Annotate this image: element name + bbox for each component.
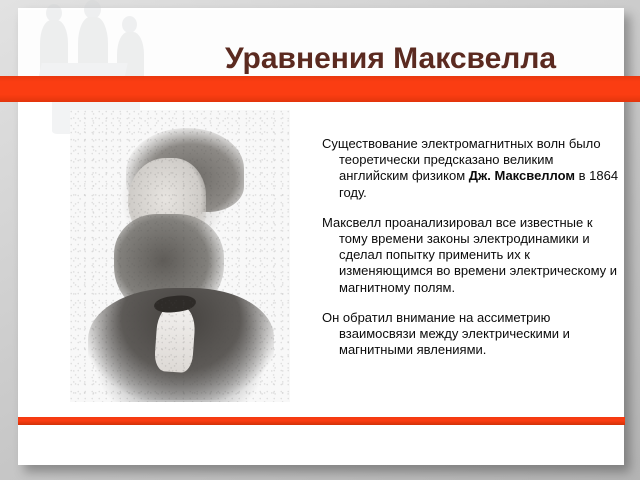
text-run: Он обратил внимание на ассиметрию взаимо…: [322, 310, 570, 357]
portrait-canvas: [70, 110, 290, 402]
accent-bar-top: [0, 76, 640, 102]
paragraph-1: Существование электромагнитных волн было…: [322, 136, 624, 201]
emphasis-run: Дж. Максвеллом: [469, 168, 575, 183]
portrait-grain-texture: [70, 110, 290, 402]
accent-bar-bottom: [18, 417, 625, 425]
text-run: Максвелл проанализировал все известные к…: [322, 215, 617, 295]
page-title: Уравнения Максвелла: [225, 42, 625, 76]
body-text-block: Существование электромагнитных волн было…: [322, 136, 624, 358]
portrait-maxwell: [70, 110, 290, 402]
slide-stage: Уравнения Максвелла Существование электр…: [0, 0, 640, 480]
paragraph-3: Он обратил внимание на ассиметрию взаимо…: [322, 310, 624, 359]
paragraph-2: Максвелл проанализировал все известные к…: [322, 215, 624, 296]
